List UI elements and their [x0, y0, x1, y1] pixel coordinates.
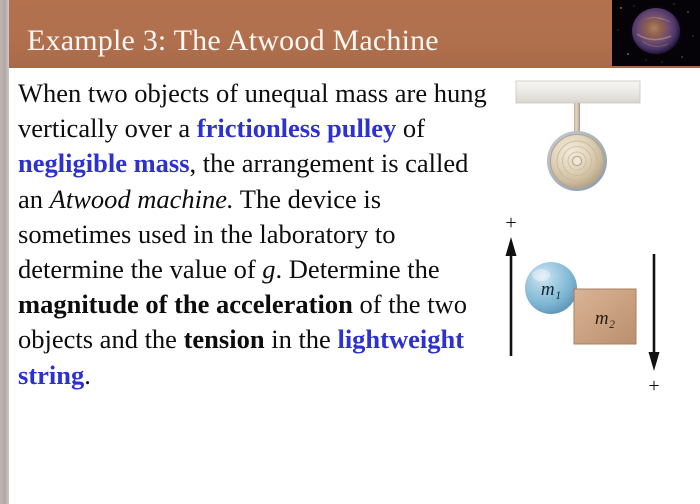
mass-2: m₂	[574, 289, 636, 344]
mass-1-label: m₁	[541, 279, 561, 300]
text-segment-3: of	[396, 113, 425, 143]
term-negligible-mass: negligible mass	[18, 148, 190, 178]
term-atwood-machine: Atwood machine.	[50, 184, 234, 214]
term-frictionless-pulley: frictionless pulley	[197, 113, 396, 143]
term-magnitude-of-acceleration: magnitude of the acceleration	[18, 289, 353, 319]
left-plus-sign: +	[505, 212, 516, 234]
symbol-g: g	[262, 254, 275, 284]
text-segment-15: .	[84, 360, 91, 390]
supernova-remnant-photo	[612, 0, 700, 66]
right-direction-arrow: +	[648, 254, 659, 396]
left-direction-arrow: +	[505, 212, 516, 356]
mass-2-label: m₂	[595, 308, 616, 329]
supernova-remnant-image	[612, 0, 700, 66]
problem-statement: When two objects of unequal mass are hun…	[18, 76, 498, 393]
ceiling-support-bar	[516, 81, 640, 103]
atwood-machine-diagram: m₁ m₂ + +	[496, 76, 700, 396]
term-tension: tension	[184, 324, 265, 354]
page-title: Example 3: The Atwood Machine	[27, 24, 587, 58]
slide-canvas: Example 3: The Atwood Machine	[0, 0, 700, 504]
left-edge-strip	[0, 0, 9, 504]
right-plus-sign: +	[648, 375, 659, 396]
text-segment-13: in the	[265, 324, 338, 354]
text-segment-9: . Determine the	[276, 254, 440, 284]
mass-1: m₁	[525, 262, 577, 314]
pulley	[547, 131, 607, 191]
